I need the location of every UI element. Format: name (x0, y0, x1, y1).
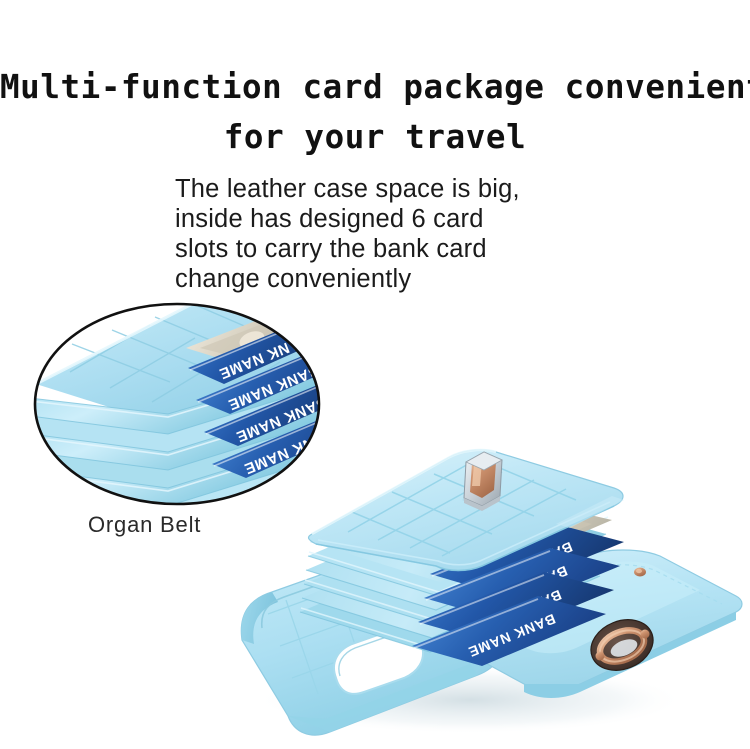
rivet-lower (456, 650, 468, 659)
ring-holder (583, 611, 660, 679)
bank-card-label: BANK NAME (478, 563, 570, 613)
inset-banknote (186, 316, 320, 364)
metal-clasp (462, 452, 502, 511)
description-text: The leather case space is big, inside ha… (175, 174, 635, 294)
headline-line-1: Multi-function card package convenient (0, 62, 750, 112)
inset-card-label: BANK NAME (216, 330, 312, 382)
inset-card-label: BANK NAME (225, 361, 321, 413)
inset-card-label: BANK NAME (241, 425, 337, 477)
phone-case-back (241, 534, 501, 735)
description-line-2: inside has designed 6 card (175, 204, 635, 234)
bank-card-label: BANK NAME (483, 539, 575, 589)
product-marketing-image: Multi-function card package convenient f… (0, 0, 750, 749)
quilt-stitching-flap (348, 458, 576, 556)
bank-card-label: BANK NAME (472, 587, 564, 637)
description-line-3: slots to carry the bank card (175, 234, 635, 264)
quilt-stitching-case (268, 550, 464, 694)
inset-detail-organ-belt: BANK NAME BANK NAME BANK NAME BANK NAME (30, 300, 358, 516)
bank-card-label: BANK NAME (466, 611, 558, 661)
inset-caption: Organ Belt (88, 512, 201, 538)
bank-card (424, 548, 620, 618)
bank-card (418, 572, 614, 642)
inset-bank-cards: BANK NAME BANK NAME BANK NAME BANK NAME (188, 322, 358, 478)
bank-card (430, 524, 624, 594)
inset-ellipse-border (35, 304, 319, 504)
main-product-photo: BANK NAME BANK NAME BANK NAME BANK NAME (241, 450, 742, 735)
quilted-top-flap (309, 450, 623, 571)
ring-band (595, 624, 648, 667)
description-line-4: change conveniently (175, 264, 635, 294)
inset-accordion-pleats (30, 366, 330, 514)
interior-lining-flap (429, 550, 742, 698)
ring-recess (583, 611, 660, 679)
inset-card-label: BANK NAME (233, 393, 329, 445)
accordion-card-slots (300, 470, 610, 652)
headline-line-2: for your travel (0, 112, 750, 162)
bank-cards-stack: BANK NAME BANK NAME BANK NAME BANK NAME (412, 524, 624, 666)
description-line-1: The leather case space is big, (175, 174, 635, 204)
bank-card (412, 596, 606, 666)
rivet-upper (634, 568, 646, 577)
camera-cutout (334, 628, 423, 694)
page-title: Multi-function card package convenient f… (0, 62, 750, 162)
banknote-in-slot (452, 508, 612, 568)
